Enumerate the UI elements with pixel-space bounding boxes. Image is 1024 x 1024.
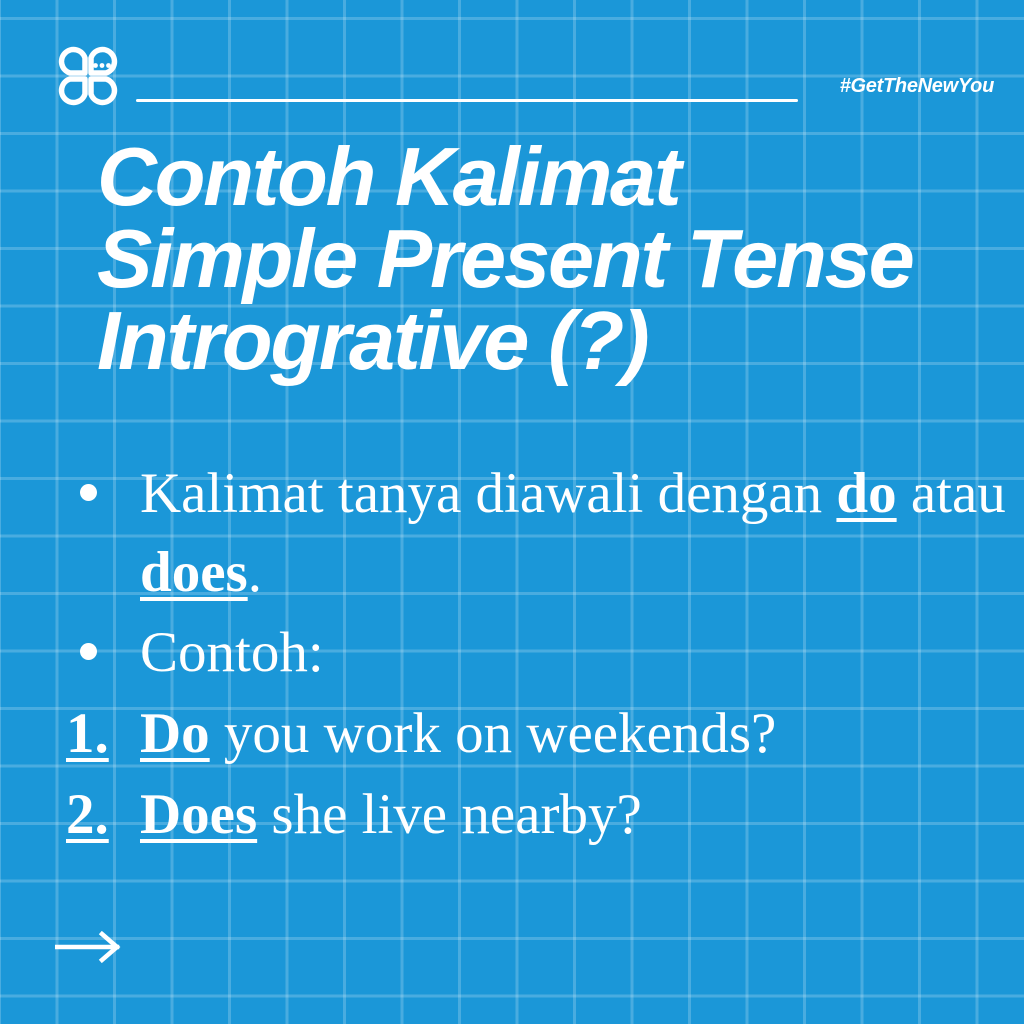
bullet-text-prefix: Kalimat tanya diawali dengan — [140, 462, 836, 525]
list-item: Kalimat tanya diawali dengan do atau doe… — [0, 455, 1024, 612]
content-body: Kalimat tanya diawali dengan do atau doe… — [0, 455, 1024, 856]
title-line-2: Simple Present Tense — [97, 218, 957, 300]
bullet-dot-icon — [80, 484, 97, 501]
keyword-does: Does — [140, 783, 257, 846]
title-line-3: Introgrative (?) — [97, 300, 957, 382]
logo-dots — [93, 63, 111, 68]
bullet-dot-icon — [80, 643, 97, 660]
next-slide-arrow[interactable] — [55, 930, 127, 964]
title-line-1: Contoh Kalimat — [97, 136, 957, 218]
bullet-text-suffix: . — [248, 541, 262, 604]
hashtag-label: #GetTheNewYou — [840, 75, 994, 98]
list-item: 2. Does she live nearby? — [0, 776, 1024, 855]
slide-canvas: #GetTheNewYou Contoh Kalimat Simple Pres… — [0, 0, 1024, 1024]
example-sentence-1: you work on weekends? — [210, 702, 777, 765]
example-sentence-2: she live nearby? — [257, 783, 642, 846]
header-divider-rule — [136, 99, 798, 102]
four-petal-clover-logo — [52, 40, 124, 112]
bullet-text-middle: atau — [897, 462, 1006, 525]
list-number-1: 1. — [66, 695, 109, 774]
keyword-do: do — [836, 462, 896, 525]
list-number-2: 2. — [66, 776, 109, 855]
list-item: Contoh: — [0, 614, 1024, 693]
slide-header: #GetTheNewYou — [0, 0, 1024, 130]
list-item: 1. Do you work on weekends? — [0, 695, 1024, 774]
keyword-does: does — [140, 541, 248, 604]
page-title: Contoh Kalimat Simple Present Tense Intr… — [97, 136, 957, 382]
bullet-text: Contoh: — [140, 621, 324, 684]
keyword-do: Do — [140, 702, 210, 765]
